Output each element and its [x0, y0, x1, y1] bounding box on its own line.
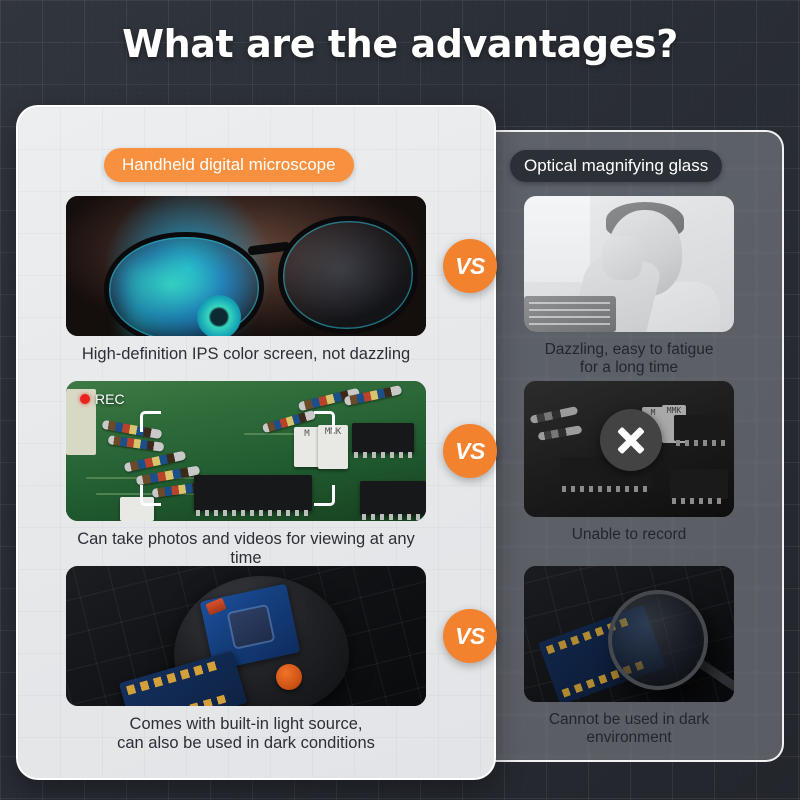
row-1-right-cell: Dazzling, easy to fatigue for a long tim… [524, 196, 734, 377]
magnifying-glass-dark-photo [524, 566, 734, 702]
dark-pcb-art: M MMK [524, 381, 734, 517]
photo-wash-overlay [524, 196, 734, 332]
focus-bracket-top-right-icon [314, 411, 335, 432]
integrated-circuit [360, 481, 426, 515]
microscope-orange-button [276, 664, 302, 690]
row-1-left-cell: High-definition IPS color screen, not da… [66, 196, 426, 364]
capacitor-label-mmk: MMK [667, 406, 681, 415]
rec-dot-icon [80, 394, 90, 404]
vs-label: VS [455, 253, 485, 280]
vs-label: VS [455, 623, 485, 650]
integrated-circuit [194, 475, 312, 511]
capacitor-label-m: M [304, 429, 309, 439]
row-3-right-caption: Cannot be used in dark environment [524, 711, 734, 747]
rec-indicator: REC [80, 391, 125, 407]
green-circuit-board-photo: M MMK REC [66, 381, 426, 521]
focus-bracket-bottom-left-icon [140, 485, 161, 506]
vs-badge-row-3: VS [443, 609, 497, 663]
focus-bracket-top-left-icon [140, 411, 161, 432]
integrated-circuit [352, 423, 414, 453]
badge-right-label: Optical magnifying glass [524, 156, 708, 176]
magnifier-art [524, 566, 734, 702]
row-2-left-caption: Can take photos and videos for viewing a… [66, 530, 426, 568]
row-1-right-caption: Dazzling, easy to fatigue for a long tim… [524, 341, 734, 377]
row-3-left-cell: Comes with built-in light source, can al… [66, 566, 426, 753]
fatigued-man-photo [524, 196, 734, 332]
badge-handheld-digital-microscope: Handheld digital microscope [104, 148, 354, 182]
vs-badge-row-1: VS [443, 239, 497, 293]
eye-photo-art [66, 196, 426, 336]
grayscale-circuit-board-photo: M MMK [524, 381, 734, 517]
eye-behind-glasses-photo [66, 196, 426, 336]
focus-bracket-bottom-right-icon [314, 485, 335, 506]
row-3-right-cell: Cannot be used in dark environment [524, 566, 734, 747]
row-2-right-caption: Unable to record [524, 526, 734, 544]
resistor [530, 406, 579, 424]
row-3-left-caption: Comes with built-in light source, can al… [66, 715, 426, 753]
scope-art [66, 566, 426, 706]
row-1-left-caption: High-definition IPS color screen, not da… [66, 345, 426, 364]
x-mark-icon [600, 409, 662, 471]
left-lens [104, 232, 264, 336]
resistor [538, 425, 583, 441]
integrated-circuit [670, 469, 728, 499]
page-title: What are the advantages? [0, 22, 800, 66]
right-lens [278, 216, 418, 334]
vs-label: VS [455, 438, 485, 465]
pcb-art: M MMK REC [66, 381, 426, 521]
screen-red-component [205, 598, 226, 616]
integrated-circuit [674, 415, 728, 441]
row-2-right-cell: M MMK Unable to record [524, 381, 734, 544]
film-capacitor: M [294, 427, 320, 467]
vs-badge-row-2: VS [443, 424, 497, 478]
iris [197, 295, 241, 336]
handheld-microscope-dark-photo [66, 566, 426, 706]
rec-label: REC [95, 391, 125, 407]
magnifier-lens [608, 590, 708, 690]
screen-chip [229, 606, 273, 647]
badge-left-label: Handheld digital microscope [122, 155, 336, 175]
infographic-page: What are the advantages? Handheld digita… [0, 0, 800, 800]
row-2-left-cell: M MMK REC Can take photos and vide [66, 381, 426, 568]
badge-optical-magnifying-glass: Optical magnifying glass [510, 150, 722, 182]
board-pads [136, 695, 227, 706]
